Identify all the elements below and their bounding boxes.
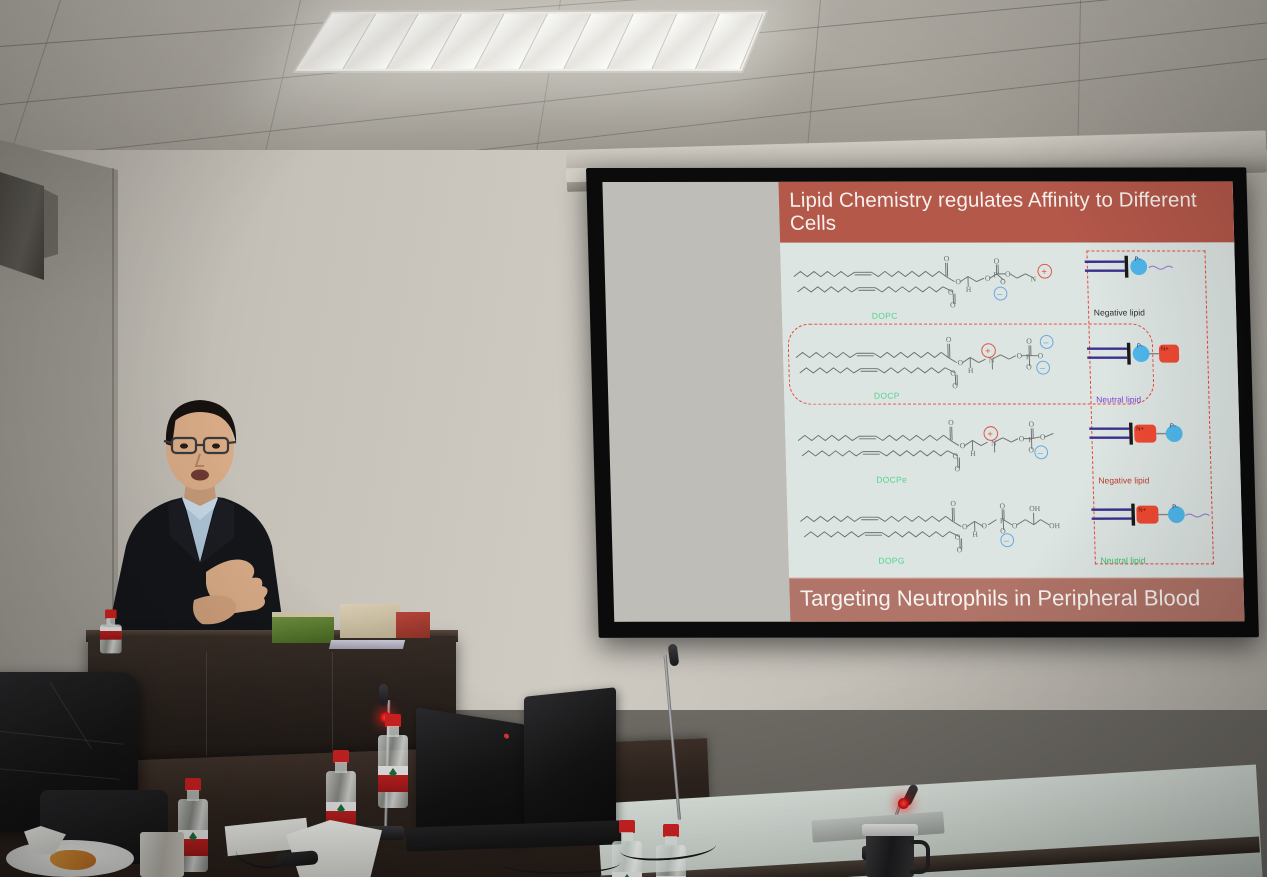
svg-text:P-: P- bbox=[1170, 424, 1176, 430]
svg-text:O: O bbox=[1005, 269, 1011, 278]
svg-text:O: O bbox=[1040, 433, 1046, 442]
structure-diagram-dopg: OO OO HO OP OO OHOH – bbox=[793, 490, 1083, 567]
svg-text:O: O bbox=[944, 254, 950, 263]
molecule-structures-column: OO OO HO OP OO N + – bbox=[780, 242, 1089, 577]
microphone-led-far bbox=[898, 798, 909, 809]
lipid-schematic-neutral-2: N+ P- bbox=[1087, 490, 1238, 543]
paper-stack-on-credenza bbox=[329, 640, 405, 649]
svg-text:P: P bbox=[1028, 435, 1032, 444]
schematic-row-4: P- Negative lipid bbox=[1080, 242, 1232, 319]
thermos-lid bbox=[862, 824, 918, 836]
svg-text:N+: N+ bbox=[1138, 507, 1146, 513]
svg-text:O: O bbox=[994, 257, 1000, 266]
molecule-label-docp: DOCP bbox=[874, 391, 900, 401]
svg-text:O: O bbox=[1000, 277, 1006, 286]
svg-text:O: O bbox=[950, 300, 956, 309]
svg-text:O: O bbox=[948, 418, 954, 427]
slide-body: OO OO HO OP OO N + – bbox=[780, 242, 1243, 578]
screen-surface: Lipid Chemistry regulates Affinity to Di… bbox=[602, 181, 1244, 621]
svg-text:+: + bbox=[988, 429, 994, 439]
gooseneck-microphone-left-head bbox=[379, 684, 388, 706]
laptop-lid-right[interactable] bbox=[524, 687, 616, 833]
svg-text:–: – bbox=[1044, 337, 1050, 347]
svg-text:O: O bbox=[946, 335, 952, 344]
schematic-label-1: Neutral lipid bbox=[1096, 395, 1141, 405]
svg-text:P: P bbox=[1000, 516, 1004, 525]
svg-text:O: O bbox=[1027, 336, 1033, 345]
molecule-label-docpe: DOCPe bbox=[876, 475, 907, 485]
svg-text:–: – bbox=[1004, 535, 1010, 545]
svg-text:H: H bbox=[970, 449, 976, 458]
svg-text:H: H bbox=[968, 365, 974, 374]
svg-text:H: H bbox=[973, 530, 979, 539]
svg-text:O: O bbox=[982, 521, 988, 530]
ceiling-light-fixture bbox=[292, 10, 768, 73]
svg-text:O: O bbox=[951, 499, 957, 508]
svg-text:O: O bbox=[1026, 362, 1032, 371]
wall-speaker bbox=[0, 172, 44, 280]
svg-text:O: O bbox=[1019, 435, 1025, 444]
svg-text:O: O bbox=[956, 277, 962, 286]
conference-room-scene: Lipid Chemistry regulates Affinity to Di… bbox=[0, 0, 1267, 877]
lipid-schematic-column: P- N+ Neutral lipid bbox=[1080, 242, 1239, 577]
svg-text:O: O bbox=[951, 368, 957, 377]
schematic-row-2: N+ P- Negative lipid bbox=[1085, 410, 1237, 487]
schematic-row-1: P- N+ Neutral lipid bbox=[1082, 329, 1234, 406]
schematic-row-3: N+ P- Neutral lipid bbox=[1087, 490, 1239, 567]
structure-diagram-docp: OO OO HN OO PO O + – bbox=[789, 326, 1079, 403]
lipid-schematic-negative-2: P- bbox=[1080, 242, 1231, 295]
thermos-mug[interactable] bbox=[866, 832, 914, 877]
svg-text:P-: P- bbox=[1137, 344, 1143, 350]
schematic-label-2: Negative lipid bbox=[1098, 475, 1149, 485]
cable-3 bbox=[500, 852, 620, 874]
svg-text:H: H bbox=[966, 285, 972, 294]
svg-text:O: O bbox=[1017, 351, 1023, 360]
thermos-handle bbox=[910, 840, 930, 874]
molecule-row-dopc: OO OO HO OP OO N + – bbox=[787, 246, 1077, 323]
water-bottle-6[interactable] bbox=[100, 609, 122, 644]
svg-text:+: + bbox=[985, 345, 991, 355]
slide-title: Lipid Chemistry regulates Affinity to Di… bbox=[779, 181, 1234, 242]
svg-text:O: O bbox=[1038, 351, 1044, 360]
svg-text:P: P bbox=[994, 270, 998, 279]
gift-box-green bbox=[272, 612, 334, 643]
slide-footer: Targeting Neutrophils in Peripheral Bloo… bbox=[790, 577, 1245, 621]
molecule-row-docp: OO OO HN OO PO O + – bbox=[789, 326, 1079, 403]
svg-text:O: O bbox=[1029, 420, 1035, 429]
svg-text:–: – bbox=[997, 289, 1003, 299]
svg-text:O: O bbox=[985, 274, 991, 283]
svg-text:O: O bbox=[1000, 501, 1006, 510]
svg-text:N: N bbox=[1031, 275, 1037, 284]
svg-text:P: P bbox=[1026, 352, 1030, 361]
paper-cup[interactable] bbox=[140, 832, 184, 877]
gift-box-red bbox=[396, 612, 430, 638]
svg-text:O: O bbox=[958, 358, 964, 367]
svg-text:O: O bbox=[1012, 521, 1018, 530]
svg-text:O: O bbox=[1029, 446, 1035, 455]
molecule-row-docpe: OO OO HN OO PO O + – bbox=[791, 410, 1081, 487]
water-bottle-3[interactable] bbox=[378, 714, 408, 808]
presentation-slide: Lipid Chemistry regulates Affinity to Di… bbox=[779, 181, 1245, 621]
molecule-row-dopg: OO OO HO OP OO OHOH – DOPG bbox=[793, 490, 1083, 567]
schematic-label-3: Neutral lipid bbox=[1100, 556, 1145, 566]
svg-text:OH: OH bbox=[1029, 504, 1041, 513]
schematic-label-4: Negative lipid bbox=[1094, 308, 1145, 318]
svg-text:P-: P- bbox=[1172, 504, 1178, 510]
lipid-schematic-neutral-1: P- N+ bbox=[1082, 329, 1233, 382]
svg-text:O: O bbox=[957, 545, 963, 554]
svg-text:N+: N+ bbox=[1161, 347, 1169, 353]
svg-text:O: O bbox=[960, 441, 966, 450]
svg-text:–: – bbox=[1038, 448, 1044, 458]
structure-diagram-docpe: OO OO HN OO PO O + – bbox=[791, 410, 1081, 487]
molecule-label-dopc: DOPC bbox=[872, 311, 898, 321]
molecule-label-dopg: DOPG bbox=[878, 555, 905, 565]
svg-text:+: + bbox=[1042, 267, 1048, 277]
svg-text:O: O bbox=[953, 452, 959, 461]
svg-text:OH: OH bbox=[1049, 521, 1061, 530]
svg-text:O: O bbox=[955, 465, 961, 474]
svg-text:O: O bbox=[953, 381, 959, 390]
lipid-schematic-negative-1: N+ P- bbox=[1085, 410, 1236, 463]
structure-diagram-dopc: OO OO HO OP OO N + – bbox=[787, 246, 1077, 323]
svg-text:O: O bbox=[948, 287, 954, 296]
gift-box-tan bbox=[340, 604, 400, 638]
svg-text:N+: N+ bbox=[1136, 427, 1144, 433]
svg-text:O: O bbox=[955, 532, 961, 541]
svg-text:–: – bbox=[1040, 363, 1046, 373]
svg-text:O: O bbox=[962, 522, 968, 531]
projection-screen[interactable]: Lipid Chemistry regulates Affinity to Di… bbox=[586, 167, 1259, 637]
svg-text:P-: P- bbox=[1134, 256, 1140, 262]
